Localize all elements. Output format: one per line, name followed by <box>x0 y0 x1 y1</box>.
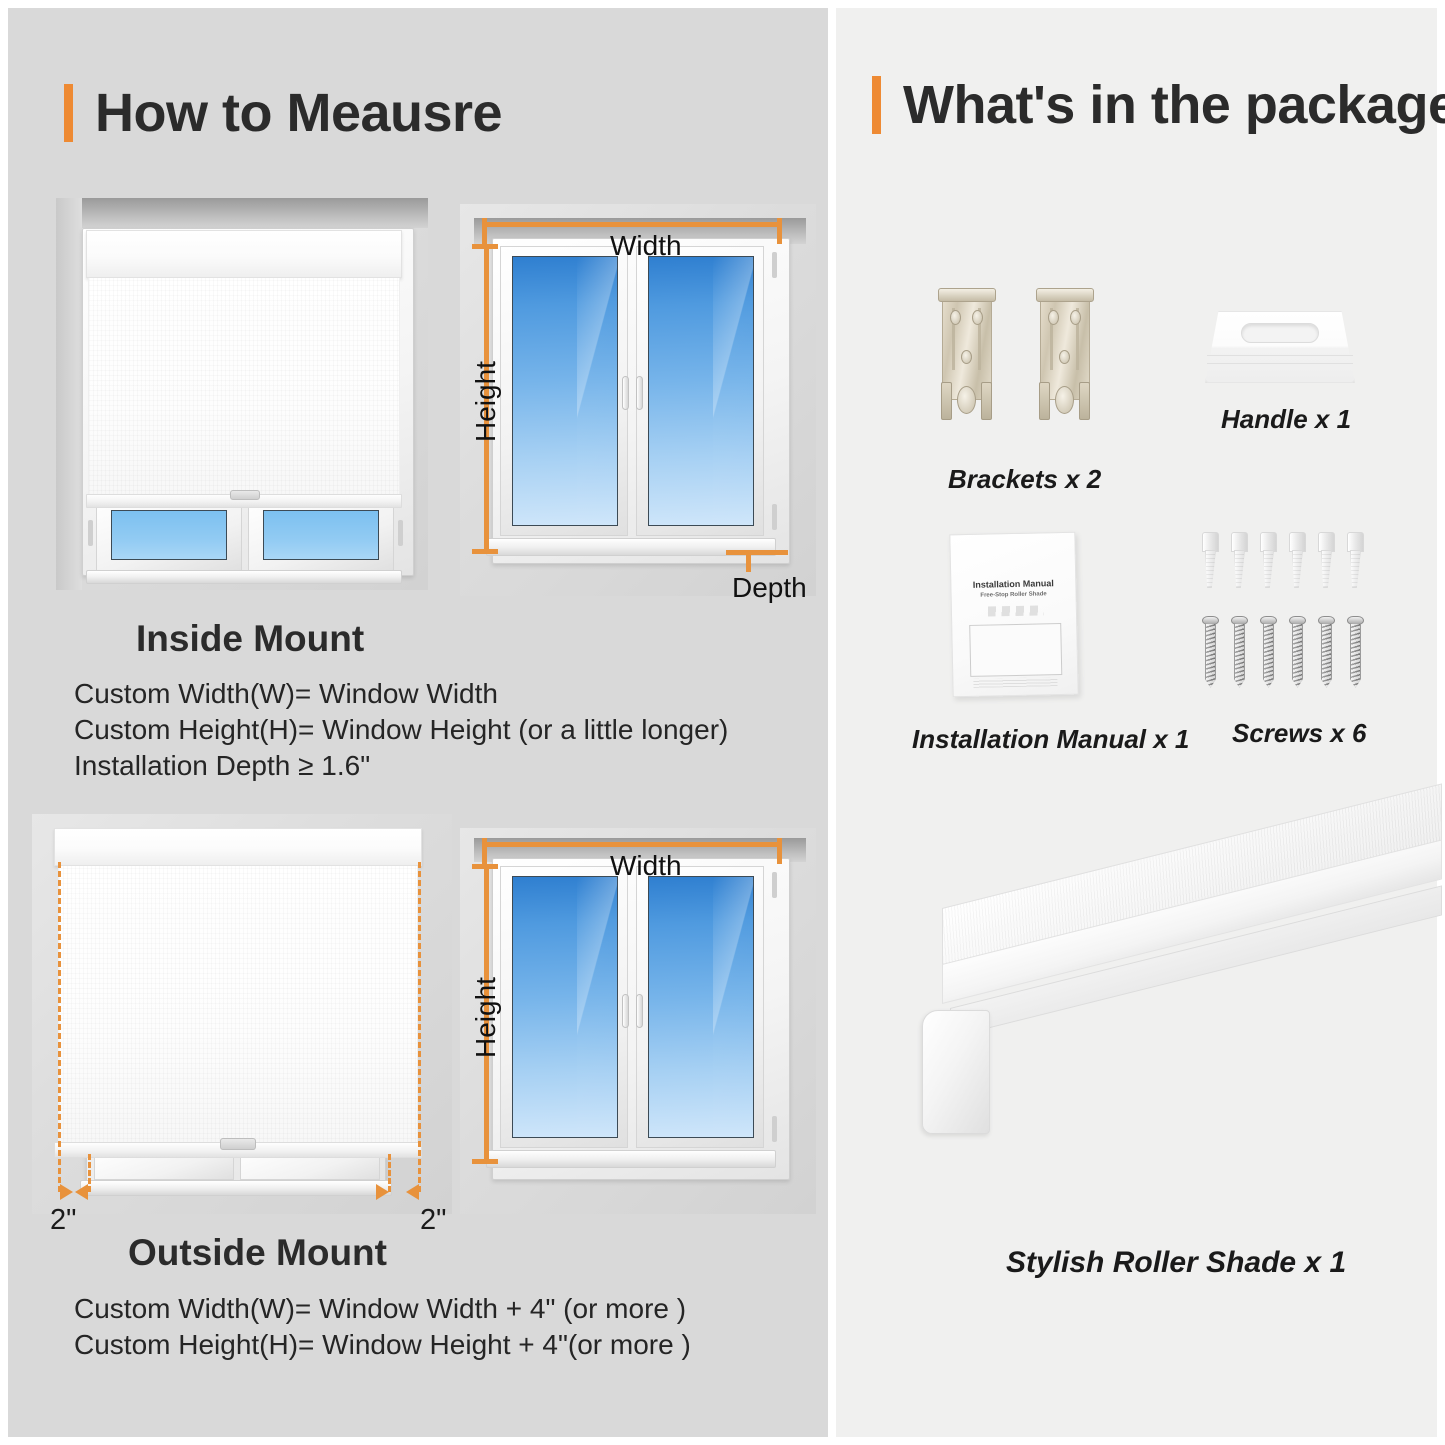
label-width: Width <box>610 230 682 262</box>
outside-mount-title: Outside Mount <box>128 1232 387 1274</box>
handle-part <box>1205 311 1355 383</box>
outside-mount-copy-line-1: Custom Width(W)= Window Width + 4" (or m… <box>74 1291 691 1327</box>
overhang-arrow-left-a <box>60 1184 73 1200</box>
window-glass-right <box>648 876 754 1138</box>
window-handle-left <box>622 994 629 1028</box>
inside-mount-copy: Custom Width(W)= Window Width Custom Hei… <box>74 676 728 784</box>
width-marker-cap-left <box>482 838 487 864</box>
bracket-screw-hole <box>957 386 976 414</box>
inside-mount-copy-line-2: Custom Height(H)= Window Height (or a li… <box>74 712 728 748</box>
anchor-body <box>1292 550 1303 588</box>
screw-shaft <box>1234 624 1245 688</box>
shade-fabric <box>58 866 418 1144</box>
glass-reflection <box>713 257 753 525</box>
outside-mount-copy: Custom Width(W)= Window Width + 4" (or m… <box>74 1291 691 1363</box>
overhang-label-left: 2" <box>50 1204 76 1237</box>
height-marker-cap-bottom <box>472 1159 498 1164</box>
package-contents-panel: What's in the package <box>836 8 1437 1437</box>
glass-reflection <box>577 257 617 525</box>
height-marker-cap-bottom <box>472 549 498 554</box>
shade-end-cap <box>922 1010 990 1134</box>
outside-mount-shade-illustration <box>32 814 452 1214</box>
window-handle-right <box>636 376 643 410</box>
screw-head <box>1260 616 1277 625</box>
bracket-slot-right <box>981 382 992 420</box>
manual-cover-footer <box>973 677 1057 688</box>
anchor-head <box>1260 532 1277 552</box>
label-height: Height <box>470 361 502 442</box>
glass-reflection <box>713 877 753 1137</box>
bracket-lip <box>938 288 996 302</box>
installation-manual-label: Installation Manual x 1 <box>912 724 1189 755</box>
screw-head <box>1231 616 1248 625</box>
shade-pull-handle <box>230 490 260 500</box>
shade-cassette <box>86 230 402 278</box>
overhang-arrow-right-b <box>406 1184 419 1200</box>
width-marker-cap-right <box>777 838 782 864</box>
bracket-hole-upper-right <box>972 310 983 325</box>
accent-bar-icon <box>872 76 881 134</box>
bracket-slot-right <box>1079 382 1090 420</box>
window-glass-left <box>512 256 618 526</box>
screw-shaft <box>1350 624 1361 688</box>
overhang-arrow-right-a <box>376 1184 389 1200</box>
screw-4 <box>1289 616 1306 688</box>
screw-2 <box>1231 616 1248 688</box>
label-depth: Depth <box>732 572 807 604</box>
handle-groove-2 <box>1207 363 1353 364</box>
window-handle-left <box>622 376 629 410</box>
height-marker-cap-top <box>472 864 498 869</box>
bracket-lip <box>1036 288 1094 302</box>
depth-marker-drop <box>746 550 751 572</box>
anchor-body <box>1263 550 1274 588</box>
bracket-hole-upper-right <box>1070 310 1081 325</box>
window-latch-top-right <box>772 872 777 898</box>
wall-anchor-2 <box>1231 532 1248 588</box>
glass-reflection <box>577 877 617 1137</box>
handle-grip-cutout <box>1241 323 1319 343</box>
inside-mount-copy-line-1: Custom Width(W)= Window Width <box>74 676 728 712</box>
manual-cover-scribble <box>988 605 1044 616</box>
window-glass-right <box>263 510 379 560</box>
wall-anchor-3 <box>1260 532 1277 588</box>
wall-anchor-6 <box>1347 532 1364 588</box>
wall-anchor-1 <box>1202 532 1219 588</box>
shade-pull-handle <box>220 1138 256 1150</box>
page-title-left: How to Meausre <box>95 82 502 144</box>
window-edge-guide-left <box>88 1154 91 1192</box>
page-title-right: What's in the package <box>903 74 1445 136</box>
manual-cover-subtitle: Free-Stop Roller Shade <box>964 591 1064 599</box>
anchor-head <box>1318 532 1335 552</box>
screw-head <box>1289 616 1306 625</box>
shade-fabric <box>88 278 400 496</box>
anchor-body <box>1234 550 1245 588</box>
screw-shaft <box>1292 624 1303 688</box>
screw-5 <box>1318 616 1335 688</box>
accent-bar-icon <box>64 84 73 142</box>
bracket-part-1 <box>936 288 998 438</box>
screw-shaft <box>1205 624 1216 688</box>
inside-mount-title: Inside Mount <box>136 618 364 660</box>
how-to-measure-header: How to Meausre <box>64 82 502 144</box>
inside-mount-measure-illustration: Width Height Depth <box>460 204 816 596</box>
screw-shaft <box>1321 624 1332 688</box>
label-width: Width <box>610 850 682 882</box>
width-marker-cap-right <box>777 218 782 244</box>
height-marker-cap-top <box>472 244 498 249</box>
window-latch-bottom-right <box>772 504 777 530</box>
handle-groove-1 <box>1207 355 1353 356</box>
window-glass-right <box>648 256 754 526</box>
manual-cover-diagram <box>969 623 1062 677</box>
anchor-head <box>1231 532 1248 552</box>
outside-mount-measure-illustration: Width Height <box>460 828 816 1214</box>
bracket-hole-upper-left <box>950 310 961 325</box>
window-glass-left <box>111 510 227 560</box>
wall-anchor-4 <box>1289 532 1306 588</box>
inside-mount-shade-illustration <box>56 198 428 590</box>
anchor-body <box>1321 550 1332 588</box>
package-header: What's in the package <box>872 74 1445 136</box>
window-sill <box>80 1180 392 1196</box>
bracket-hole-mid <box>961 350 972 364</box>
window-latch-left <box>88 520 93 546</box>
anchor-head <box>1347 532 1364 552</box>
screw-shaft <box>1263 624 1274 688</box>
handle-body <box>1205 311 1355 383</box>
anchor-body <box>1205 550 1216 588</box>
how-to-measure-panel: How to Meausre <box>8 8 828 1437</box>
brackets-group <box>936 288 1116 448</box>
inside-mount-copy-line-3: Installation Depth ≥ 1.6" <box>74 748 728 784</box>
manual-cover-title: Installation Manual <box>963 578 1063 590</box>
window-latch-bottom-right <box>772 1116 777 1142</box>
anchor-head <box>1202 532 1219 552</box>
label-height: Height <box>470 977 502 1058</box>
width-marker-cap-left <box>482 218 487 244</box>
bracket-screw-hole <box>1055 386 1074 414</box>
window-sill <box>486 1150 776 1168</box>
bracket-part-2 <box>1034 288 1096 438</box>
window-glass-left <box>512 876 618 1138</box>
fasteners-group <box>1202 532 1372 697</box>
handle-label: Handle x 1 <box>1221 404 1351 435</box>
bracket-slot-left <box>941 382 952 420</box>
roller-shade-product-image <box>900 888 1440 1208</box>
screw-head <box>1318 616 1335 625</box>
window-sill <box>86 570 402 584</box>
screw-head <box>1347 616 1364 625</box>
outside-mount-copy-line-2: Custom Height(H)= Window Height + 4"(or … <box>74 1327 691 1363</box>
anchor-head <box>1289 532 1306 552</box>
wall-anchor-5 <box>1318 532 1335 588</box>
roller-shade-label: Stylish Roller Shade x 1 <box>1006 1246 1346 1280</box>
overhang-label-right: 2" <box>420 1204 446 1237</box>
screw-1 <box>1202 616 1219 688</box>
window-latch-top-right <box>772 252 777 278</box>
overhang-guide-right <box>418 862 421 1192</box>
bracket-hole-upper-left <box>1048 310 1059 325</box>
window-reveal-left <box>56 198 82 590</box>
bracket-hole-mid <box>1059 350 1070 364</box>
shade-cassette <box>54 828 422 866</box>
screw-head <box>1202 616 1219 625</box>
overhang-guide-left <box>58 862 61 1192</box>
window-handle-right <box>636 994 643 1028</box>
brackets-label: Brackets x 2 <box>948 464 1101 495</box>
anchor-body <box>1350 550 1361 588</box>
window-latch-right <box>398 520 403 546</box>
bracket-slot-left <box>1039 382 1050 420</box>
depth-marker-line <box>726 550 788 555</box>
screw-6 <box>1347 616 1364 688</box>
width-marker-line <box>482 842 782 847</box>
infographic-page: How to Meausre <box>0 0 1445 1445</box>
width-marker-line <box>482 222 782 227</box>
screw-3 <box>1260 616 1277 688</box>
overhang-arrow-left-b <box>75 1184 88 1200</box>
screws-label: Screws x 6 <box>1232 718 1366 749</box>
installation-manual-part: Installation Manual Free-Stop Roller Sha… <box>949 532 1078 698</box>
window-reveal-top <box>56 198 428 228</box>
